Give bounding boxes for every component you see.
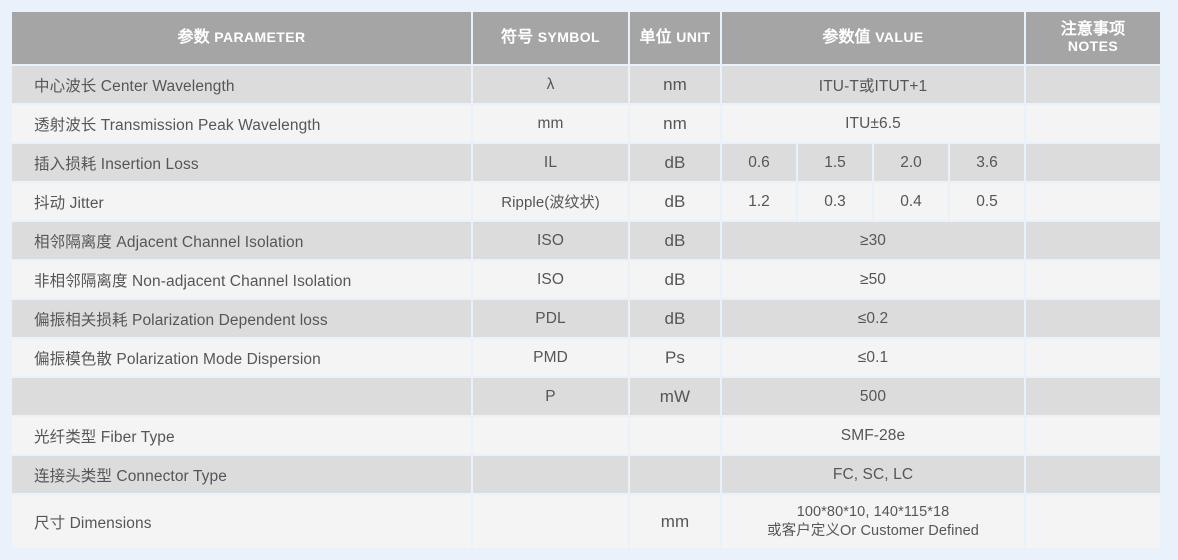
row-notes: [1026, 105, 1160, 142]
row-symbol: [473, 456, 628, 493]
row-symbol: mm: [473, 105, 628, 142]
row-unit: nm: [630, 66, 720, 103]
row-value: 500: [722, 378, 1024, 415]
table-row: 抖动 Jitter Ripple(波纹状) dB 1.2 0.3 0.4 0.5: [12, 183, 1160, 220]
row-unit: dB: [630, 183, 720, 220]
table-header-row: 参数 PARAMETER 符号 SYMBOL 单位 UNIT 参数值 VALUE…: [12, 12, 1160, 64]
row-value-item: 1.5: [798, 144, 872, 181]
row-notes: [1026, 222, 1160, 259]
table-row: 连接头类型 Connector Type FC, SC, LC: [12, 456, 1160, 493]
row-notes: [1026, 183, 1160, 220]
row-unit: dB: [630, 300, 720, 337]
row-value-group: 0.6 1.5 2.0 3.6: [722, 144, 1024, 181]
row-unit: dB: [630, 222, 720, 259]
row-parameter: 相邻隔离度 Adjacent Channel Isolation: [12, 222, 471, 259]
row-parameter: [12, 378, 471, 415]
row-value: ≤0.1: [722, 339, 1024, 376]
row-value: ≥30: [722, 222, 1024, 259]
row-value-item: 0.4: [874, 183, 948, 220]
column-header-symbol-cn: 符号: [501, 29, 533, 46]
column-header-parameter: 参数 PARAMETER: [12, 12, 471, 64]
table-row: 插入损耗 Insertion Loss IL dB 0.6 1.5 2.0 3.…: [12, 144, 1160, 181]
column-header-notes: 注意事项 NOTES: [1026, 12, 1160, 64]
row-unit: mm: [630, 495, 720, 548]
row-notes: [1026, 339, 1160, 376]
row-unit: mW: [630, 378, 720, 415]
column-header-parameter-en: PARAMETER: [214, 29, 305, 45]
row-notes: [1026, 456, 1160, 493]
row-symbol: IL: [473, 144, 628, 181]
row-notes: [1026, 66, 1160, 103]
row-parameter: 连接头类型 Connector Type: [12, 456, 471, 493]
row-value-line2: 或客户定义Or Customer Defined: [767, 522, 979, 541]
row-parameter: 尺寸 Dimensions: [12, 495, 471, 548]
column-header-value-cn: 参数值: [822, 29, 870, 46]
row-unit: dB: [630, 261, 720, 298]
table-row: 尺寸 Dimensions mm 100*80*10, 140*115*18 或…: [12, 495, 1160, 548]
row-notes: [1026, 417, 1160, 454]
row-value: ITU-T或ITUT+1: [722, 66, 1024, 103]
row-value: ≤0.2: [722, 300, 1024, 337]
row-symbol: ISO: [473, 261, 628, 298]
row-parameter: 抖动 Jitter: [12, 183, 471, 220]
row-symbol: Ripple(波纹状): [473, 183, 628, 220]
table-row: 透射波长 Transmission Peak Wavelength mm nm …: [12, 105, 1160, 142]
row-notes: [1026, 261, 1160, 298]
specification-table: 参数 PARAMETER 符号 SYMBOL 单位 UNIT 参数值 VALUE…: [12, 12, 1160, 550]
row-value-item: 2.0: [874, 144, 948, 181]
row-parameter: 偏振相关损耗 Polarization Dependent loss: [12, 300, 471, 337]
table-row: 光纤类型 Fiber Type SMF-28e: [12, 417, 1160, 454]
row-unit: [630, 417, 720, 454]
row-symbol: ISO: [473, 222, 628, 259]
row-value: ≥50: [722, 261, 1024, 298]
table-row: P mW 500: [12, 378, 1160, 415]
column-header-symbol-en: SYMBOL: [538, 29, 600, 45]
row-value: 100*80*10, 140*115*18 或客户定义Or Customer D…: [722, 495, 1024, 548]
table-row: 偏振模色散 Polarization Mode Dispersion PMD P…: [12, 339, 1160, 376]
row-value: ITU±6.5: [722, 105, 1024, 142]
row-value: SMF-28e: [722, 417, 1024, 454]
row-symbol: P: [473, 378, 628, 415]
column-header-unit-en: UNIT: [676, 29, 710, 45]
row-symbol: PMD: [473, 339, 628, 376]
row-value-item: 3.6: [950, 144, 1024, 181]
row-parameter: 非相邻隔离度 Non-adjacent Channel Isolation: [12, 261, 471, 298]
column-header-unit-cn: 单位: [639, 29, 671, 46]
row-parameter: 光纤类型 Fiber Type: [12, 417, 471, 454]
row-notes: [1026, 144, 1160, 181]
table-row: 偏振相关损耗 Polarization Dependent loss PDL d…: [12, 300, 1160, 337]
row-notes: [1026, 495, 1160, 548]
row-notes: [1026, 378, 1160, 415]
column-header-notes-cn: 注意事项: [1061, 21, 1125, 39]
row-unit: Ps: [630, 339, 720, 376]
row-parameter: 偏振模色散 Polarization Mode Dispersion: [12, 339, 471, 376]
table-row: 中心波长 Center Wavelength λ nm ITU-T或ITUT+1: [12, 66, 1160, 103]
column-header-parameter-cn: 参数: [178, 29, 210, 46]
table-row: 非相邻隔离度 Non-adjacent Channel Isolation IS…: [12, 261, 1160, 298]
table-row: 相邻隔离度 Adjacent Channel Isolation ISO dB …: [12, 222, 1160, 259]
row-value: FC, SC, LC: [722, 456, 1024, 493]
column-header-value: 参数值 VALUE: [722, 12, 1024, 64]
row-symbol: λ: [473, 66, 628, 103]
row-symbol: PDL: [473, 300, 628, 337]
row-value-item: 0.5: [950, 183, 1024, 220]
column-header-notes-en: NOTES: [1068, 39, 1118, 55]
row-parameter: 透射波长 Transmission Peak Wavelength: [12, 105, 471, 142]
row-unit: dB: [630, 144, 720, 181]
column-header-value-en: VALUE: [875, 29, 923, 45]
row-unit: [630, 456, 720, 493]
column-header-unit: 单位 UNIT: [630, 12, 720, 64]
row-symbol: [473, 417, 628, 454]
row-value-group: 1.2 0.3 0.4 0.5: [722, 183, 1024, 220]
row-value-line1: 100*80*10, 140*115*18: [767, 503, 979, 522]
column-header-symbol: 符号 SYMBOL: [473, 12, 628, 64]
row-parameter: 中心波长 Center Wavelength: [12, 66, 471, 103]
row-notes: [1026, 300, 1160, 337]
row-value-item: 0.6: [722, 144, 796, 181]
row-value-item: 1.2: [722, 183, 796, 220]
row-parameter: 插入损耗 Insertion Loss: [12, 144, 471, 181]
row-value-item: 0.3: [798, 183, 872, 220]
row-unit: nm: [630, 105, 720, 142]
row-symbol: [473, 495, 628, 548]
